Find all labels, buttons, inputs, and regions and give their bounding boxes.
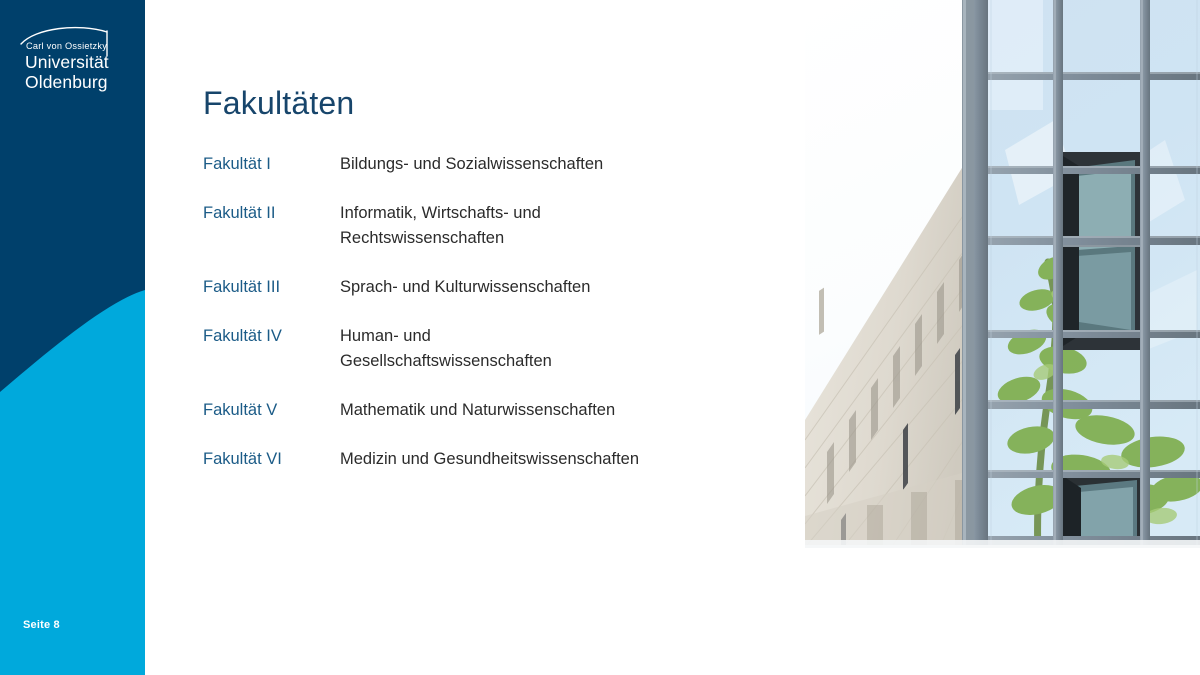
slide-content: Fakultäten Fakultät I Bildungs- und Sozi… <box>203 0 793 675</box>
faculty-label: Fakultät IV <box>203 324 340 349</box>
faculty-label: Fakultät VI <box>203 447 340 472</box>
page-number: Seite 8 <box>23 619 60 631</box>
faculty-name-line: Medizin und Gesundheitswissenschaften <box>340 447 793 472</box>
faculty-name-line: Human- und <box>340 324 793 349</box>
faculty-name-line: Gesellschaftswissenschaften <box>340 349 793 374</box>
faculty-name: Informatik, Wirtschafts- und Rechtswisse… <box>340 201 793 251</box>
list-item: Fakultät III Sprach- und Kulturwissensch… <box>203 275 793 300</box>
list-item: Fakultät V Mathematik und Naturwissensch… <box>203 398 793 423</box>
logo-line-carl-von-ossietzky: Carl von Ossietzky <box>26 41 107 51</box>
brand-sidebar: Carl von Ossietzky Universität Oldenburg… <box>0 0 145 675</box>
slide-canvas: Carl von Ossietzky Universität Oldenburg… <box>0 0 1200 675</box>
faculty-name-line: Bildungs- und Sozialwissenschaften <box>340 152 793 177</box>
faculty-name: Mathematik und Naturwissenschaften <box>340 398 793 423</box>
faculty-label: Fakultät V <box>203 398 340 423</box>
building-facade-photo <box>805 0 1200 568</box>
page-title: Fakultäten <box>203 86 354 121</box>
faculty-name-line: Sprach- und Kulturwissenschaften <box>340 275 793 300</box>
list-item: Fakultät IV Human- und Gesellschaftswiss… <box>203 324 793 374</box>
faculty-name: Human- und Gesellschaftswissenschaften <box>340 324 793 374</box>
logo-line-universitaet: Universität <box>25 52 109 73</box>
logo-line-oldenburg: Oldenburg <box>25 72 108 93</box>
list-item: Fakultät I Bildungs- und Sozialwissensch… <box>203 152 793 177</box>
faculty-name-line: Informatik, Wirtschafts- und <box>340 201 793 226</box>
faculty-name-line: Rechtswissenschaften <box>340 226 793 251</box>
list-item: Fakultät VI Medizin und Gesundheitswisse… <box>203 447 793 472</box>
faculty-label: Fakultät I <box>203 152 340 177</box>
faculty-name-line: Mathematik und Naturwissenschaften <box>340 398 793 423</box>
faculty-name: Sprach- und Kulturwissenschaften <box>340 275 793 300</box>
faculty-name: Medizin und Gesundheitswissenschaften <box>340 447 793 472</box>
faculty-name: Bildungs- und Sozialwissenschaften <box>340 152 793 177</box>
faculty-label: Fakultät III <box>203 275 340 300</box>
faculty-label: Fakultät II <box>203 201 340 226</box>
university-logo: Carl von Ossietzky Universität Oldenburg <box>17 22 127 92</box>
faculty-list: Fakultät I Bildungs- und Sozialwissensch… <box>203 152 793 472</box>
list-item: Fakultät II Informatik, Wirtschafts- und… <box>203 201 793 251</box>
